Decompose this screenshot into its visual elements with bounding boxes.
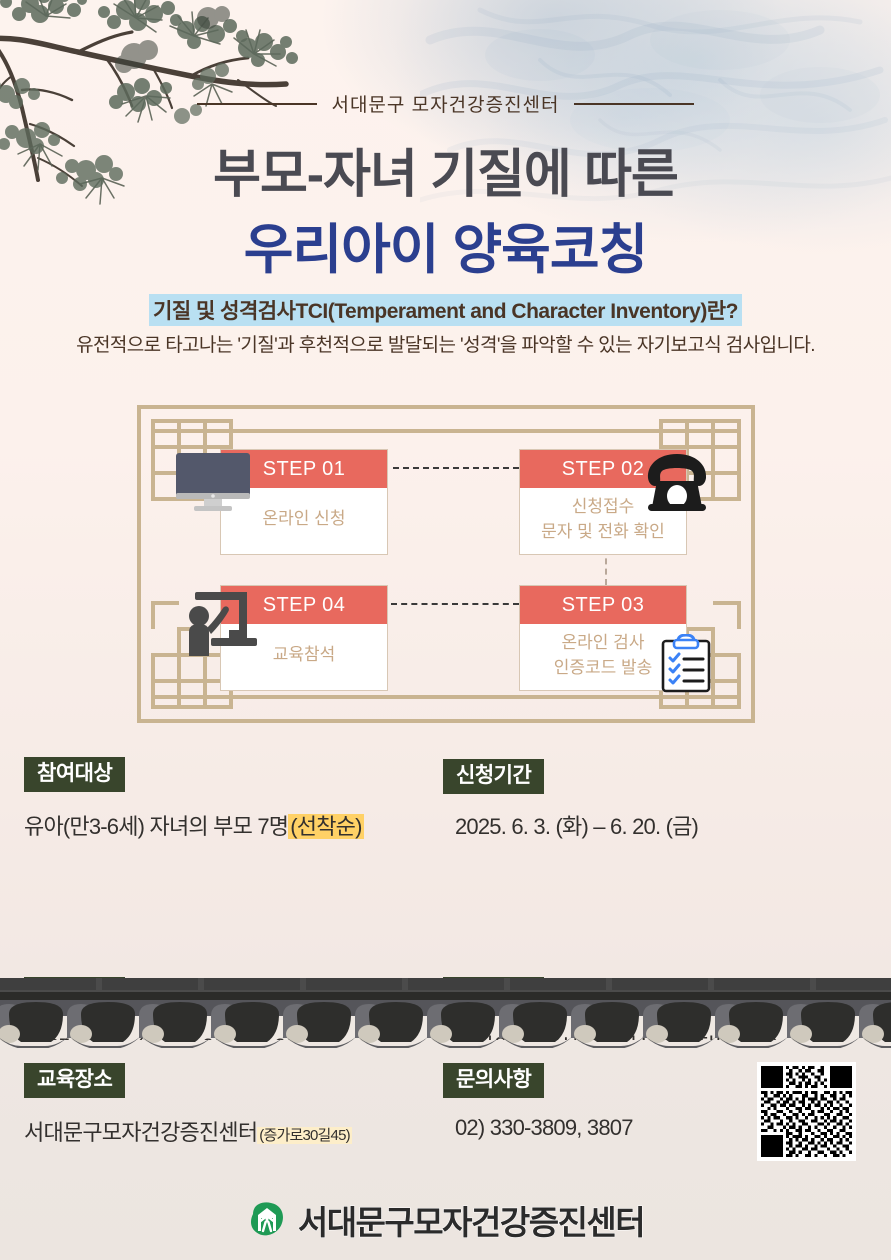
clipboard-checklist-icon bbox=[659, 634, 713, 694]
value-venue-main: 서대문구모자건강증진센터 bbox=[24, 1120, 257, 1145]
step-04-line1: 교육참석 bbox=[273, 643, 336, 668]
subtitle-wrapper: 기질 및 성격검사TCI(Temperament and Character I… bbox=[0, 294, 891, 326]
step-02-line1: 신청접수 bbox=[572, 495, 635, 520]
value-venue-address: (증가로30길45) bbox=[257, 1127, 352, 1144]
step-01-line1: 온라인 신청 bbox=[263, 507, 346, 532]
tci-subtitle: 기질 및 성격검사TCI(Temperament and Character I… bbox=[149, 294, 742, 326]
info-row-1: 참여대상 유아(만3-6세) 자녀의 부모 7명(선착순) 신청기간 2025.… bbox=[0, 757, 891, 867]
badge-participants: 참여대상 bbox=[24, 757, 125, 792]
kicker-rule-right bbox=[574, 103, 694, 105]
step-03-header: STEP 03 bbox=[520, 586, 686, 624]
badge-contact: 문의사항 bbox=[443, 1063, 544, 1098]
tci-description: 유전적으로 타고나는 '기질'과 후천적으로 발달되는 '성격'을 파악할 수 … bbox=[0, 330, 891, 357]
hanok-roof-tiles bbox=[0, 978, 891, 1048]
building-leaf-icon bbox=[247, 1200, 287, 1240]
footer-logo: 서대문구모자건강증진센터 bbox=[0, 1196, 891, 1244]
organization-kicker: 서대문구 모자건강증진센터 bbox=[331, 90, 559, 117]
step-02-line2: 문자 및 전화 확인 bbox=[541, 520, 665, 545]
telephone-icon bbox=[644, 451, 710, 513]
value-contact-phone: 02) 330-3809, 3807 bbox=[455, 1115, 633, 1141]
step-03-line1: 온라인 검사 bbox=[562, 631, 645, 656]
monitor-icon bbox=[174, 453, 252, 513]
badge-venue: 교육장소 bbox=[24, 1063, 125, 1098]
process-diagram: STEP 01 온라인 신청 STEP 02 신청접수 문자 및 전화 확인 S… bbox=[131, 399, 761, 729]
poster-title-line1: 부모-자녀 기질에 따른 bbox=[0, 132, 891, 207]
connector-step1-step2 bbox=[393, 467, 519, 469]
connector-step3-step4 bbox=[391, 603, 519, 605]
qr-code[interactable] bbox=[757, 1062, 856, 1161]
info-grid: 참여대상 유아(만3-6세) 자녀의 부모 7명(선착순) 신청기간 2025.… bbox=[0, 757, 891, 977]
step-03-line2: 인증코드 발송 bbox=[554, 656, 653, 681]
value-participants-highlight: (선착순) bbox=[288, 814, 363, 839]
teaching-presenter-icon bbox=[181, 590, 267, 662]
info-row-2: 교육일정 2025. 6. 24. (화) 10:00 ~ 11:00 신청방법… bbox=[0, 867, 891, 977]
poster: 서대문구 모자건강증진센터 부모-자녀 기질에 따른 우리아이 양육코칭 기질 … bbox=[0, 0, 891, 1260]
kicker-rule-left bbox=[197, 103, 317, 105]
value-participants-main: 유아(만3-6세) 자녀의 부모 7명 bbox=[24, 814, 288, 839]
badge-application-period: 신청기간 bbox=[443, 759, 544, 794]
kicker-row: 서대문구 모자건강증진센터 bbox=[0, 90, 891, 117]
value-venue: 서대문구모자건강증진센터(증가로30길45) bbox=[24, 1115, 352, 1147]
poster-title-line2: 우리아이 양육코칭 bbox=[0, 205, 891, 284]
logo-text: 서대문구모자건강증진센터 bbox=[298, 1196, 644, 1244]
value-application-period: 2025. 6. 3. (화) – 6. 20. (금) bbox=[455, 809, 698, 841]
value-participants: 유아(만3-6세) 자녀의 부모 7명(선착순) bbox=[24, 809, 364, 841]
